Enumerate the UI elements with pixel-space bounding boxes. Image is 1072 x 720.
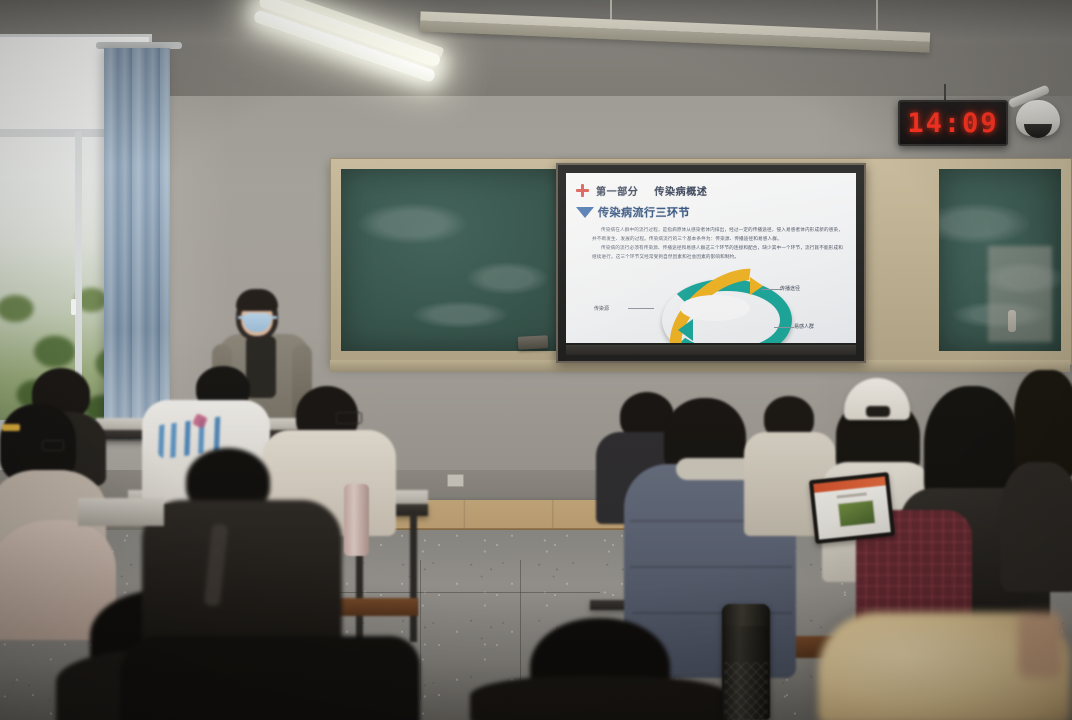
slide-paragraph-2: 传染病的流行必须有传染源、传播途径和易感人群这三个环节的连接和配合，缺少其中一个… [592, 244, 846, 262]
puffer-seam-2 [630, 566, 792, 568]
slide-paragraph-1: 传染病在人群中的流行过程，是指病原体从感染者体内排出，经过一定的传播途径，侵入易… [592, 226, 846, 244]
cycle-label-route: 传播途径 [780, 285, 800, 292]
classroom-photo: 第一部分传染病概述 传染病流行三环节 传染病在人群中的流行过程，是指病原体从感染… [0, 0, 1072, 720]
slide-section-title: 传染病概述 [654, 187, 707, 198]
student-torso [1000, 462, 1072, 592]
slide-heading: 传染病流行三环节 [598, 204, 690, 220]
slide-surface: 第一部分传染病概述 传染病流行三环节 传染病在人群中的流行过程，是指病原体从感染… [566, 173, 856, 343]
cycle-label-source: 传染源 [594, 305, 609, 312]
laptop-left[interactable] [78, 498, 164, 526]
chalk-dust [341, 169, 579, 351]
cycle-arrow-yellow [750, 277, 763, 295]
window-curtain[interactable] [104, 48, 170, 440]
slide-header: 第一部分传染病概述 [576, 183, 846, 198]
teacher-mask-strap-right [270, 316, 277, 319]
hair-clip-icon [2, 424, 20, 431]
projection-screen[interactable]: 第一部分传染病概述 传染病流行三环节 传染病在人群中的流行过程，是指病原体从感染… [556, 163, 866, 363]
cycle-leader-topright [762, 289, 782, 290]
desk-leg-b [410, 512, 417, 642]
black-thermos[interactable] [722, 604, 770, 720]
eyeglasses-icon [42, 440, 64, 451]
student-torso [470, 676, 730, 720]
student-torso [120, 636, 420, 720]
thermos-mesh-sleeve [724, 662, 768, 720]
cycle-arrow-teal [678, 319, 693, 341]
cycle-label-population: 易感人群 [794, 323, 814, 330]
teacher-shirt [246, 336, 276, 398]
clock-time: 14:09 [907, 108, 998, 139]
blackboard-panel-left [341, 169, 579, 351]
window-latch[interactable] [71, 299, 76, 315]
transmission-cycle-diagram: 传染源 传播途径 易感人群 [566, 277, 856, 343]
hand-silhouette [1018, 612, 1062, 678]
cycle-leader-left [628, 308, 654, 309]
floor-seam-2 [420, 560, 421, 700]
screen-lower-bezel [566, 345, 856, 355]
chalkboard-eraser[interactable] [518, 335, 549, 350]
cycle-leader-bottomright [774, 327, 794, 328]
cycle-ring [662, 279, 768, 337]
wall-digital-clock: 14:09 [898, 100, 1008, 146]
floor-seam-1 [300, 592, 600, 593]
curtain-shading [104, 48, 170, 440]
laptop-doc-image [837, 500, 875, 528]
slide-subheading-row: 传染病流行三环节 [576, 204, 846, 220]
wall-power-outlet[interactable] [447, 474, 464, 487]
lamp-hanger-right [876, 0, 878, 30]
slide-section-line: 第一部分传染病概述 [596, 183, 707, 198]
slide-body: 传染病在人群中的流行过程，是指病原体从感染者体内排出，经过一定的传播途径，侵入易… [592, 226, 846, 262]
laptop-right[interactable] [809, 472, 895, 544]
pink-thermos[interactable] [344, 484, 369, 556]
teacher-hair [236, 289, 278, 311]
wall-panel [988, 246, 1052, 342]
medical-cross-icon [576, 184, 589, 197]
cap-opening [866, 406, 890, 417]
thermos-lid [724, 604, 768, 626]
cycle-ring-hole [680, 295, 750, 321]
triangle-bullet-icon [576, 207, 594, 218]
slide-section-label: 第一部分 [596, 187, 638, 198]
eyeglasses-icon [336, 412, 362, 424]
